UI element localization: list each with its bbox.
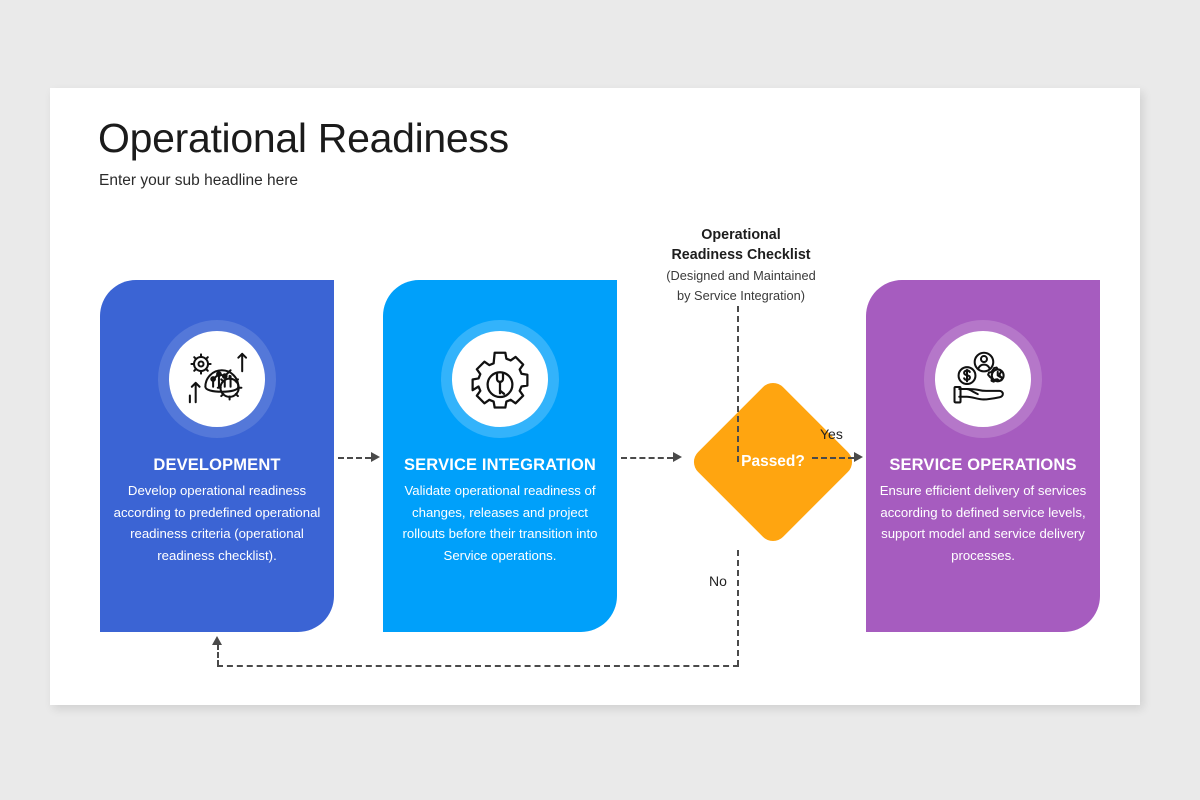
checklist-title-line-2: Readiness Checklist bbox=[643, 246, 839, 266]
hand-coin-user-gear-icon bbox=[952, 348, 1014, 410]
decision-diamond[interactable]: Passed? bbox=[688, 377, 858, 547]
edge-label-no: No bbox=[709, 573, 727, 589]
icon-badge-inner bbox=[169, 331, 265, 427]
connector-decision-no-vertical bbox=[737, 550, 739, 666]
arrow-head-to-decision bbox=[673, 452, 682, 462]
card-service-integration[interactable]: SERVICE INTEGRATION Validate operational… bbox=[383, 280, 617, 632]
card-development[interactable]: DEVELOPMENT Develop operational readines… bbox=[100, 280, 334, 632]
connector-decision-yes bbox=[812, 457, 854, 459]
connector-integration-to-decision bbox=[621, 457, 673, 459]
checklist-subtitle-line-1: (Designed and Maintained bbox=[643, 266, 839, 285]
icon-badge bbox=[924, 320, 1042, 438]
gear-wrench-icon bbox=[470, 349, 530, 409]
card-heading: SERVICE INTEGRATION bbox=[383, 456, 617, 475]
connector-decision-no-horizontal bbox=[217, 665, 739, 667]
card-heading: SERVICE OPERATIONS bbox=[866, 456, 1100, 475]
diamond-label: Passed? bbox=[688, 377, 858, 547]
icon-badge bbox=[441, 320, 559, 438]
checklist-title-line-1: Operational bbox=[643, 226, 839, 246]
gears-bar-chart-growth-icon bbox=[186, 348, 248, 410]
card-service-operations[interactable]: SERVICE OPERATIONS Ensure efficient deli… bbox=[866, 280, 1100, 632]
connector-checklist-to-diamond bbox=[737, 306, 739, 462]
icon-badge-inner bbox=[452, 331, 548, 427]
edge-label-yes: Yes bbox=[820, 426, 843, 442]
card-body: Validate operational readiness of change… bbox=[396, 480, 604, 566]
card-heading: DEVELOPMENT bbox=[100, 456, 334, 475]
card-body: Ensure efficient delivery of services ac… bbox=[879, 480, 1087, 566]
slide-canvas: Operational Readiness Enter your sub hea… bbox=[50, 88, 1140, 705]
arrow-head-to-operations bbox=[854, 452, 863, 462]
page-title: Operational Readiness bbox=[98, 115, 509, 162]
card-body: Develop operational readiness according … bbox=[113, 480, 321, 566]
arrow-head-to-integration bbox=[371, 452, 380, 462]
icon-badge bbox=[158, 320, 276, 438]
connector-development-to-integration bbox=[338, 457, 371, 459]
icon-badge-inner bbox=[935, 331, 1031, 427]
connector-no-riser-to-development bbox=[217, 644, 219, 666]
checklist-annotation: Operational Readiness Checklist (Designe… bbox=[643, 226, 839, 305]
arrow-head-to-development bbox=[212, 636, 222, 645]
page-subtitle: Enter your sub headline here bbox=[99, 172, 298, 190]
checklist-subtitle-line-2: by Service Integration) bbox=[643, 286, 839, 305]
